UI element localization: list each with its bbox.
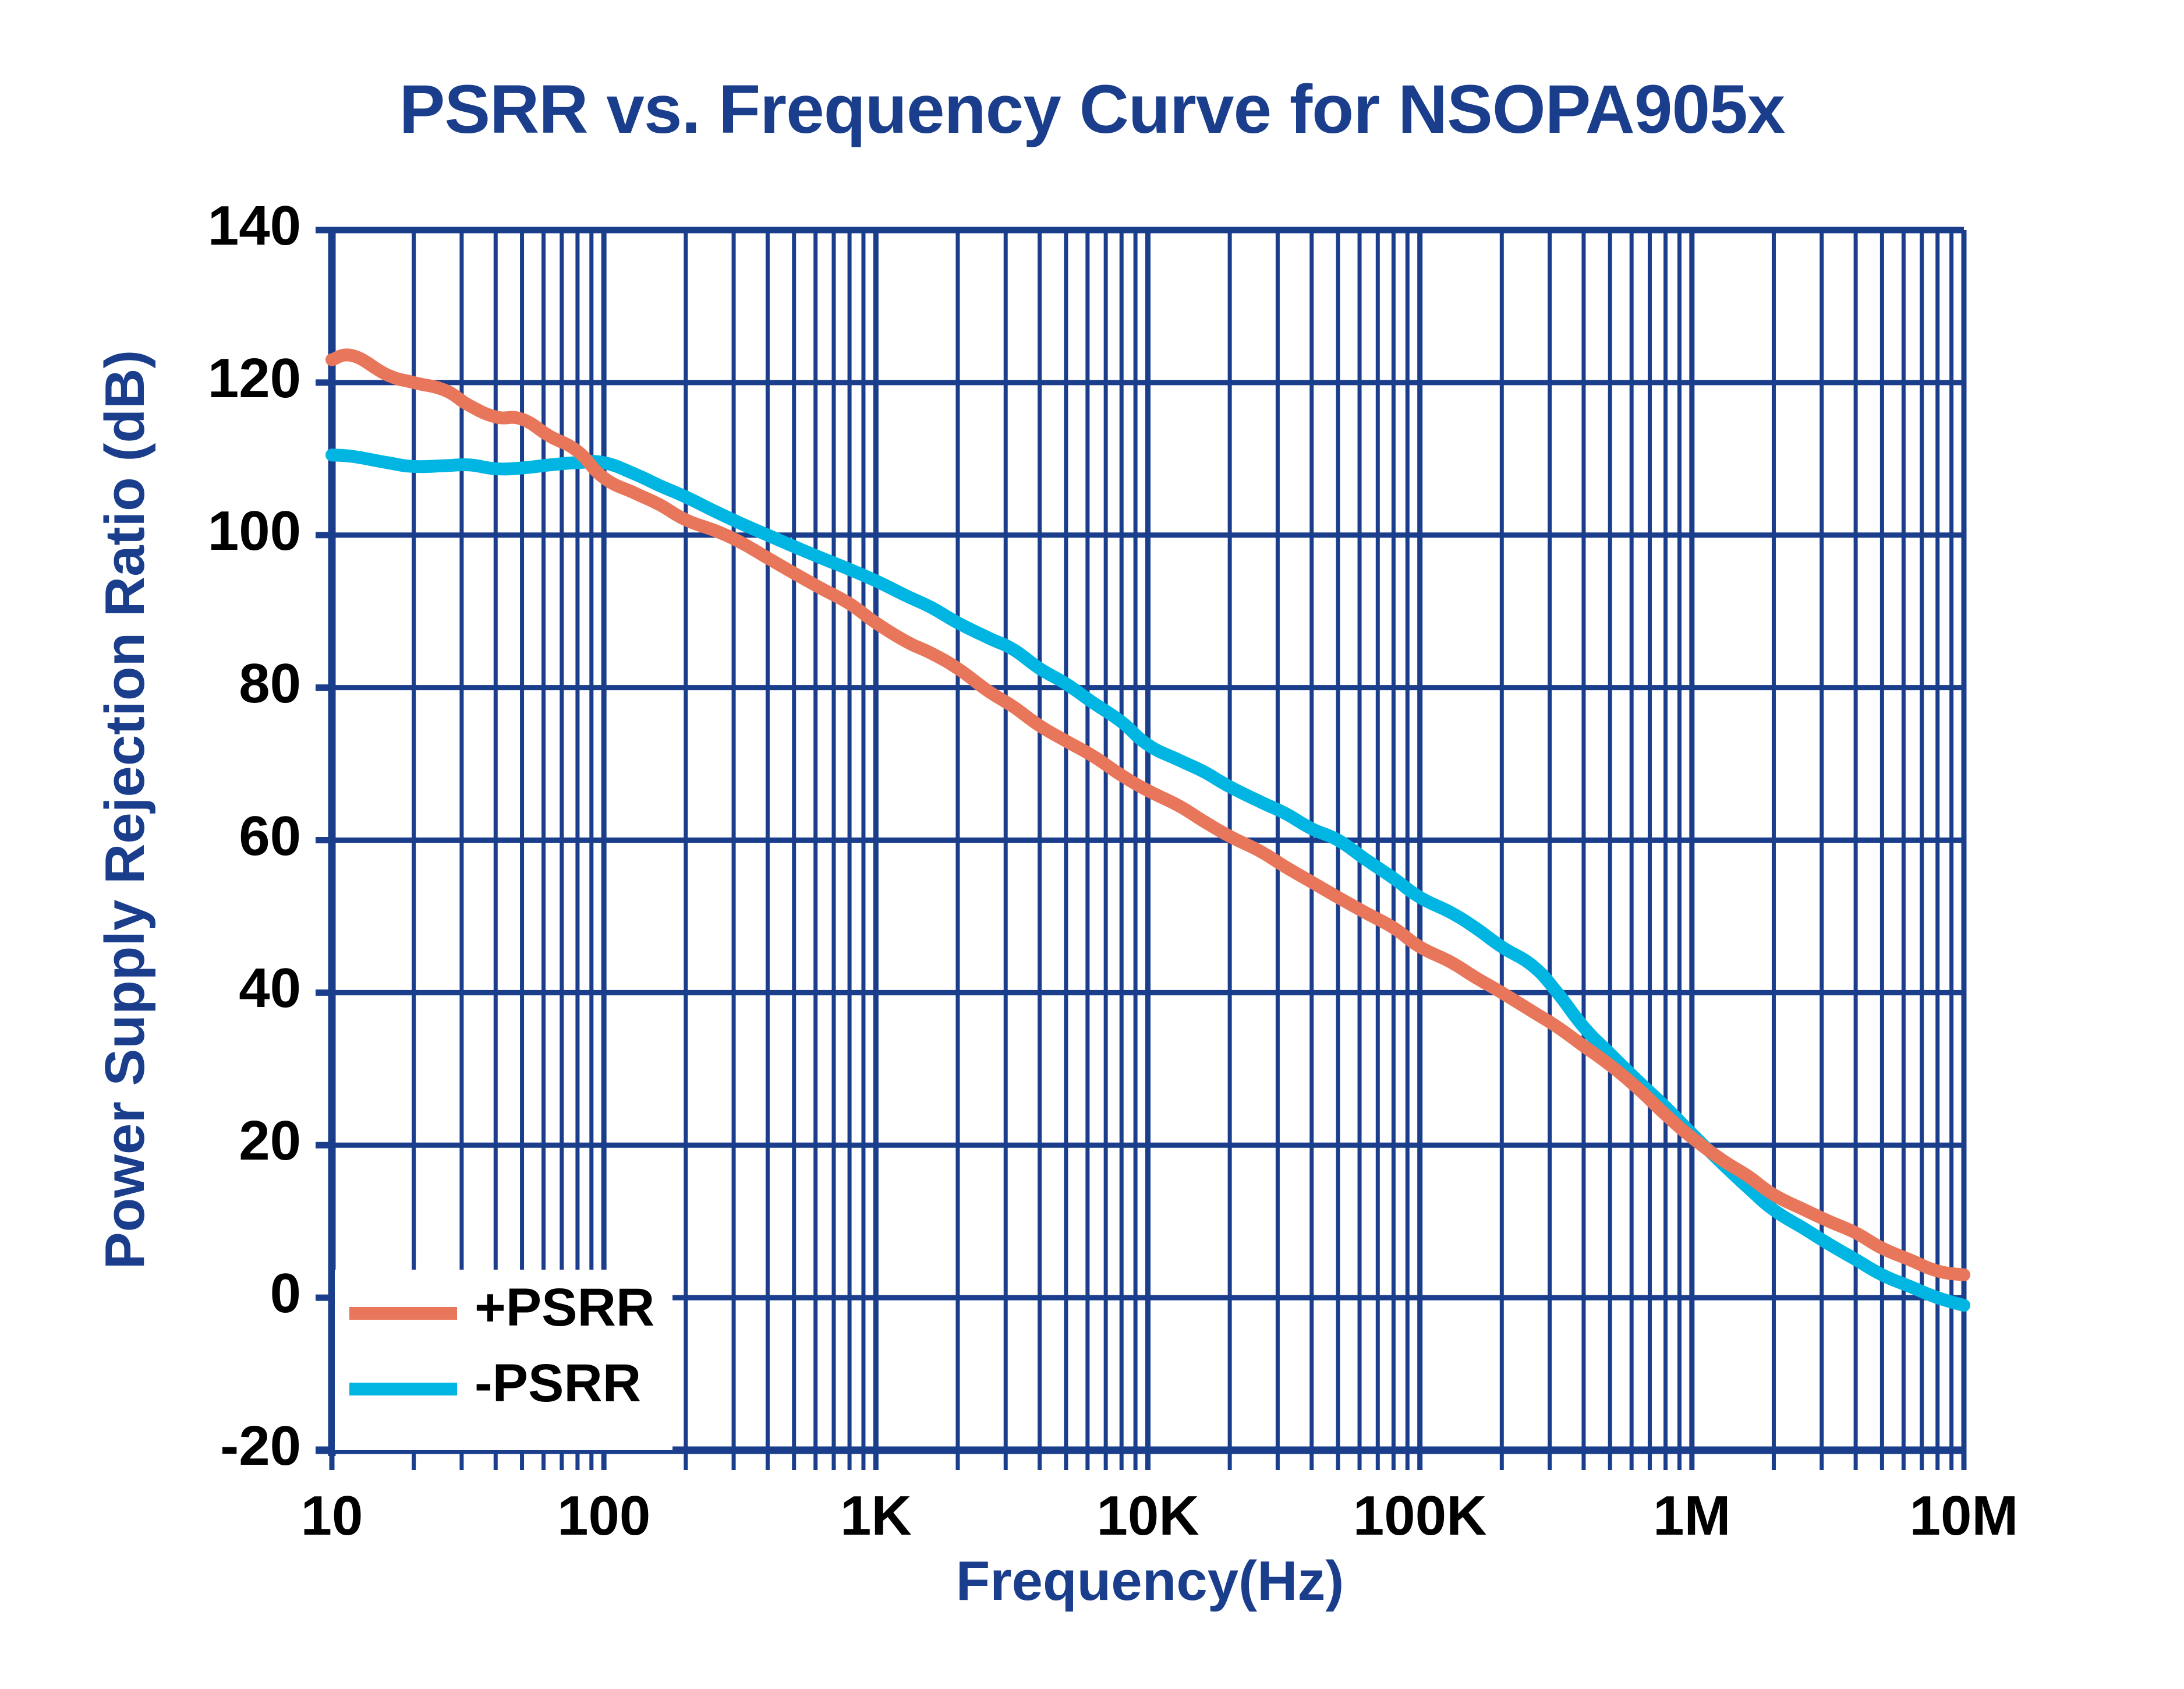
y-tick-label: 140 bbox=[109, 194, 301, 258]
x-tick-label: 1K bbox=[759, 1484, 992, 1548]
y-tick-label: 120 bbox=[109, 347, 301, 411]
y-tick-label: 0 bbox=[109, 1262, 301, 1326]
x-tick-label: 100K bbox=[1304, 1484, 1537, 1548]
legend-label-plus-psrr[interactable]: +PSRR bbox=[475, 1277, 654, 1338]
y-tick-label: 40 bbox=[109, 956, 301, 1020]
legend-swatch-plus-psrr[interactable] bbox=[349, 1307, 457, 1320]
x-tick-label: 1M bbox=[1576, 1484, 1808, 1548]
x-tick-label: 100 bbox=[487, 1484, 720, 1548]
y-tick-label: -20 bbox=[109, 1414, 301, 1478]
x-tick-label: 10 bbox=[215, 1484, 448, 1548]
plot-area bbox=[0, 0, 2184, 1689]
y-tick-label: 60 bbox=[109, 804, 301, 868]
psrr-chart-figure: PSRR vs. Frequency Curve for NSOPA905x P… bbox=[0, 0, 2184, 1689]
legend-swatch-minus-psrr[interactable] bbox=[349, 1383, 457, 1395]
y-tick-label: 100 bbox=[109, 499, 301, 563]
x-tick-label: 10M bbox=[1847, 1484, 2080, 1548]
y-tick-label: 80 bbox=[109, 652, 301, 716]
x-tick-label: 10K bbox=[1032, 1484, 1265, 1548]
y-tick-label: 20 bbox=[109, 1109, 301, 1173]
legend-label-minus-psrr[interactable]: -PSRR bbox=[475, 1353, 641, 1414]
